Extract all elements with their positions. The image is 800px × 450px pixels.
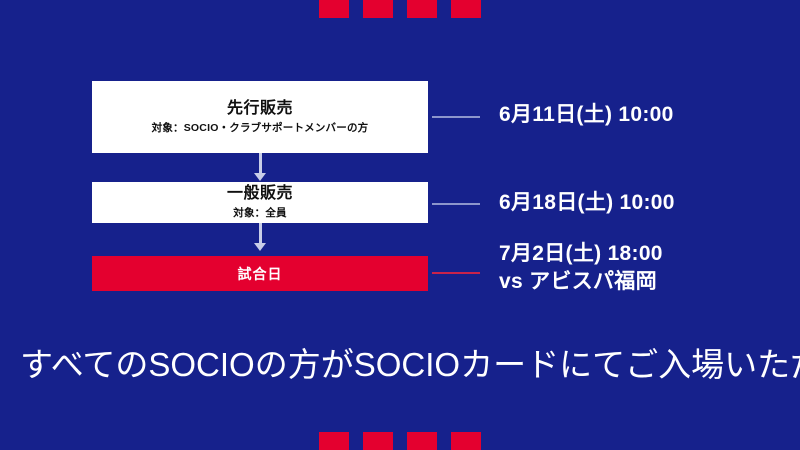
flow-step-match-day: 試合日 — [92, 256, 428, 291]
connector-stem — [259, 223, 262, 245]
bottom-decoration-strip — [0, 432, 800, 450]
slide-canvas: 先行販売 対象：SOCIO・クラブサポートメンバーの方 一般販売 対象：全員 試… — [0, 0, 800, 450]
general-sale-box: 一般販売 対象：全員 — [92, 182, 428, 223]
flow-step-general-sale: 一般販売 対象：全員 — [92, 182, 428, 223]
sales-schedule-flow: 先行販売 対象：SOCIO・クラブサポートメンバーの方 一般販売 対象：全員 試… — [92, 81, 428, 291]
general-sale-date-label: 6月18日(土) 10:00 — [499, 189, 675, 217]
leader-line-general-sale — [432, 203, 480, 205]
presale-date-line-1: 6月11日(土) 10:00 — [499, 101, 674, 129]
decoration-square — [319, 0, 349, 18]
leader-line-match-day — [432, 272, 480, 274]
match-day-opponent-line: vs アビスパ福岡 — [499, 268, 663, 296]
decoration-square — [451, 432, 481, 450]
decoration-square — [363, 0, 393, 18]
connector-arrow-general-to-match — [92, 223, 428, 256]
decoration-square — [363, 432, 393, 450]
top-decoration-strip — [0, 0, 800, 18]
arrow-down-icon — [254, 173, 266, 181]
match-day-date-line-1: 7月2日(土) 18:00 — [499, 240, 663, 268]
bottom-headline: すべてのSOCIOの方がSOCIOカードにてご入場いただけます。 — [20, 345, 782, 385]
match-day-date-label: 7月2日(土) 18:00 vs アビスパ福岡 — [499, 240, 663, 295]
general-sale-subtitle: 対象：全員 — [233, 207, 287, 221]
presale-subtitle: 対象：SOCIO・クラブサポートメンバーの方 — [152, 122, 369, 136]
connector-stem — [259, 153, 262, 175]
match-day-title: 試合日 — [238, 264, 283, 284]
decoration-square — [407, 432, 437, 450]
decoration-square — [407, 0, 437, 18]
presale-title: 先行販売 — [227, 99, 293, 119]
general-sale-date-line-1: 6月18日(土) 10:00 — [499, 189, 675, 217]
match-day-box: 試合日 — [92, 256, 428, 291]
decoration-square — [319, 432, 349, 450]
leader-line-presale — [432, 116, 480, 118]
presale-date-label: 6月11日(土) 10:00 — [499, 101, 674, 129]
flow-step-presale: 先行販売 対象：SOCIO・クラブサポートメンバーの方 — [92, 81, 428, 153]
general-sale-title: 一般販売 — [227, 184, 293, 204]
presale-box: 先行販売 対象：SOCIO・クラブサポートメンバーの方 — [92, 81, 428, 153]
connector-arrow-presale-to-general — [92, 153, 428, 182]
arrow-down-icon — [254, 243, 266, 251]
decoration-square — [451, 0, 481, 18]
